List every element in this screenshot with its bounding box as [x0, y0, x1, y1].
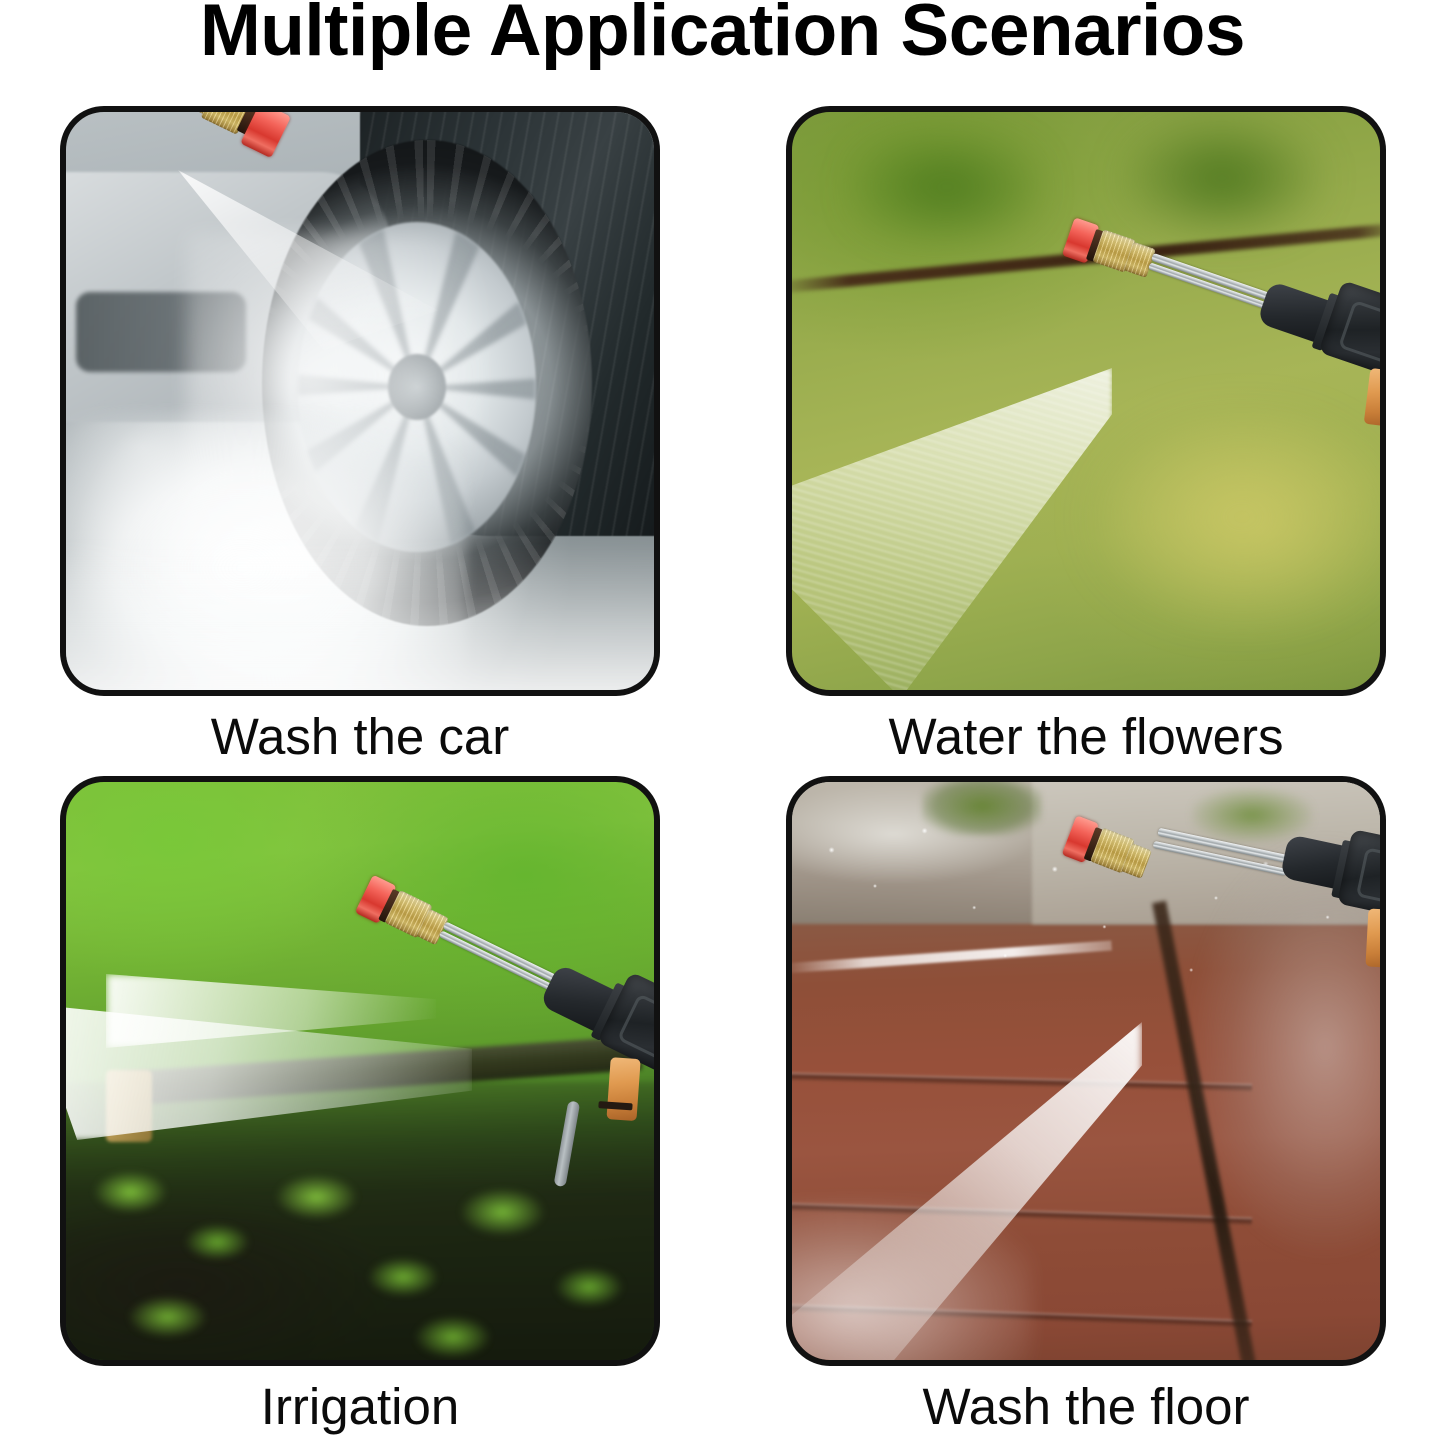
scenario-caption-wash-the-floor: Wash the floor	[786, 1375, 1386, 1439]
scenario-image-water-the-flowers	[786, 106, 1386, 696]
scenario-caption-irrigation: Irrigation	[60, 1375, 660, 1439]
foam-ground-mist	[60, 540, 660, 696]
water-spray-streaks	[786, 368, 1112, 696]
scenario-card-wash-the-floor[interactable]: Wash the floor	[786, 776, 1386, 1439]
infographic-page: Multiple Application Scenarios	[0, 0, 1445, 1445]
scenario-card-irrigation[interactable]: Irrigation	[60, 776, 660, 1439]
scenario-image-wash-the-car	[60, 106, 660, 696]
scenario-card-wash-the-car[interactable]: Wash the car	[60, 106, 660, 769]
background-foliage-left	[852, 132, 1042, 242]
scenario-image-wash-the-floor	[786, 776, 1386, 1366]
water-jet-mist	[786, 1202, 1032, 1366]
scenario-caption-water-the-flowers: Water the flowers	[786, 705, 1386, 769]
background-sunlit-grass	[1092, 412, 1386, 622]
scenario-grid: Wash the car	[0, 100, 1445, 1445]
scenario-card-water-the-flowers[interactable]: Water the flowers	[786, 106, 1386, 769]
page-title: Multiple Application Scenarios	[0, 0, 1445, 67]
scenario-caption-wash-the-car: Wash the car	[60, 705, 660, 769]
scenario-image-irrigation	[60, 776, 660, 1366]
